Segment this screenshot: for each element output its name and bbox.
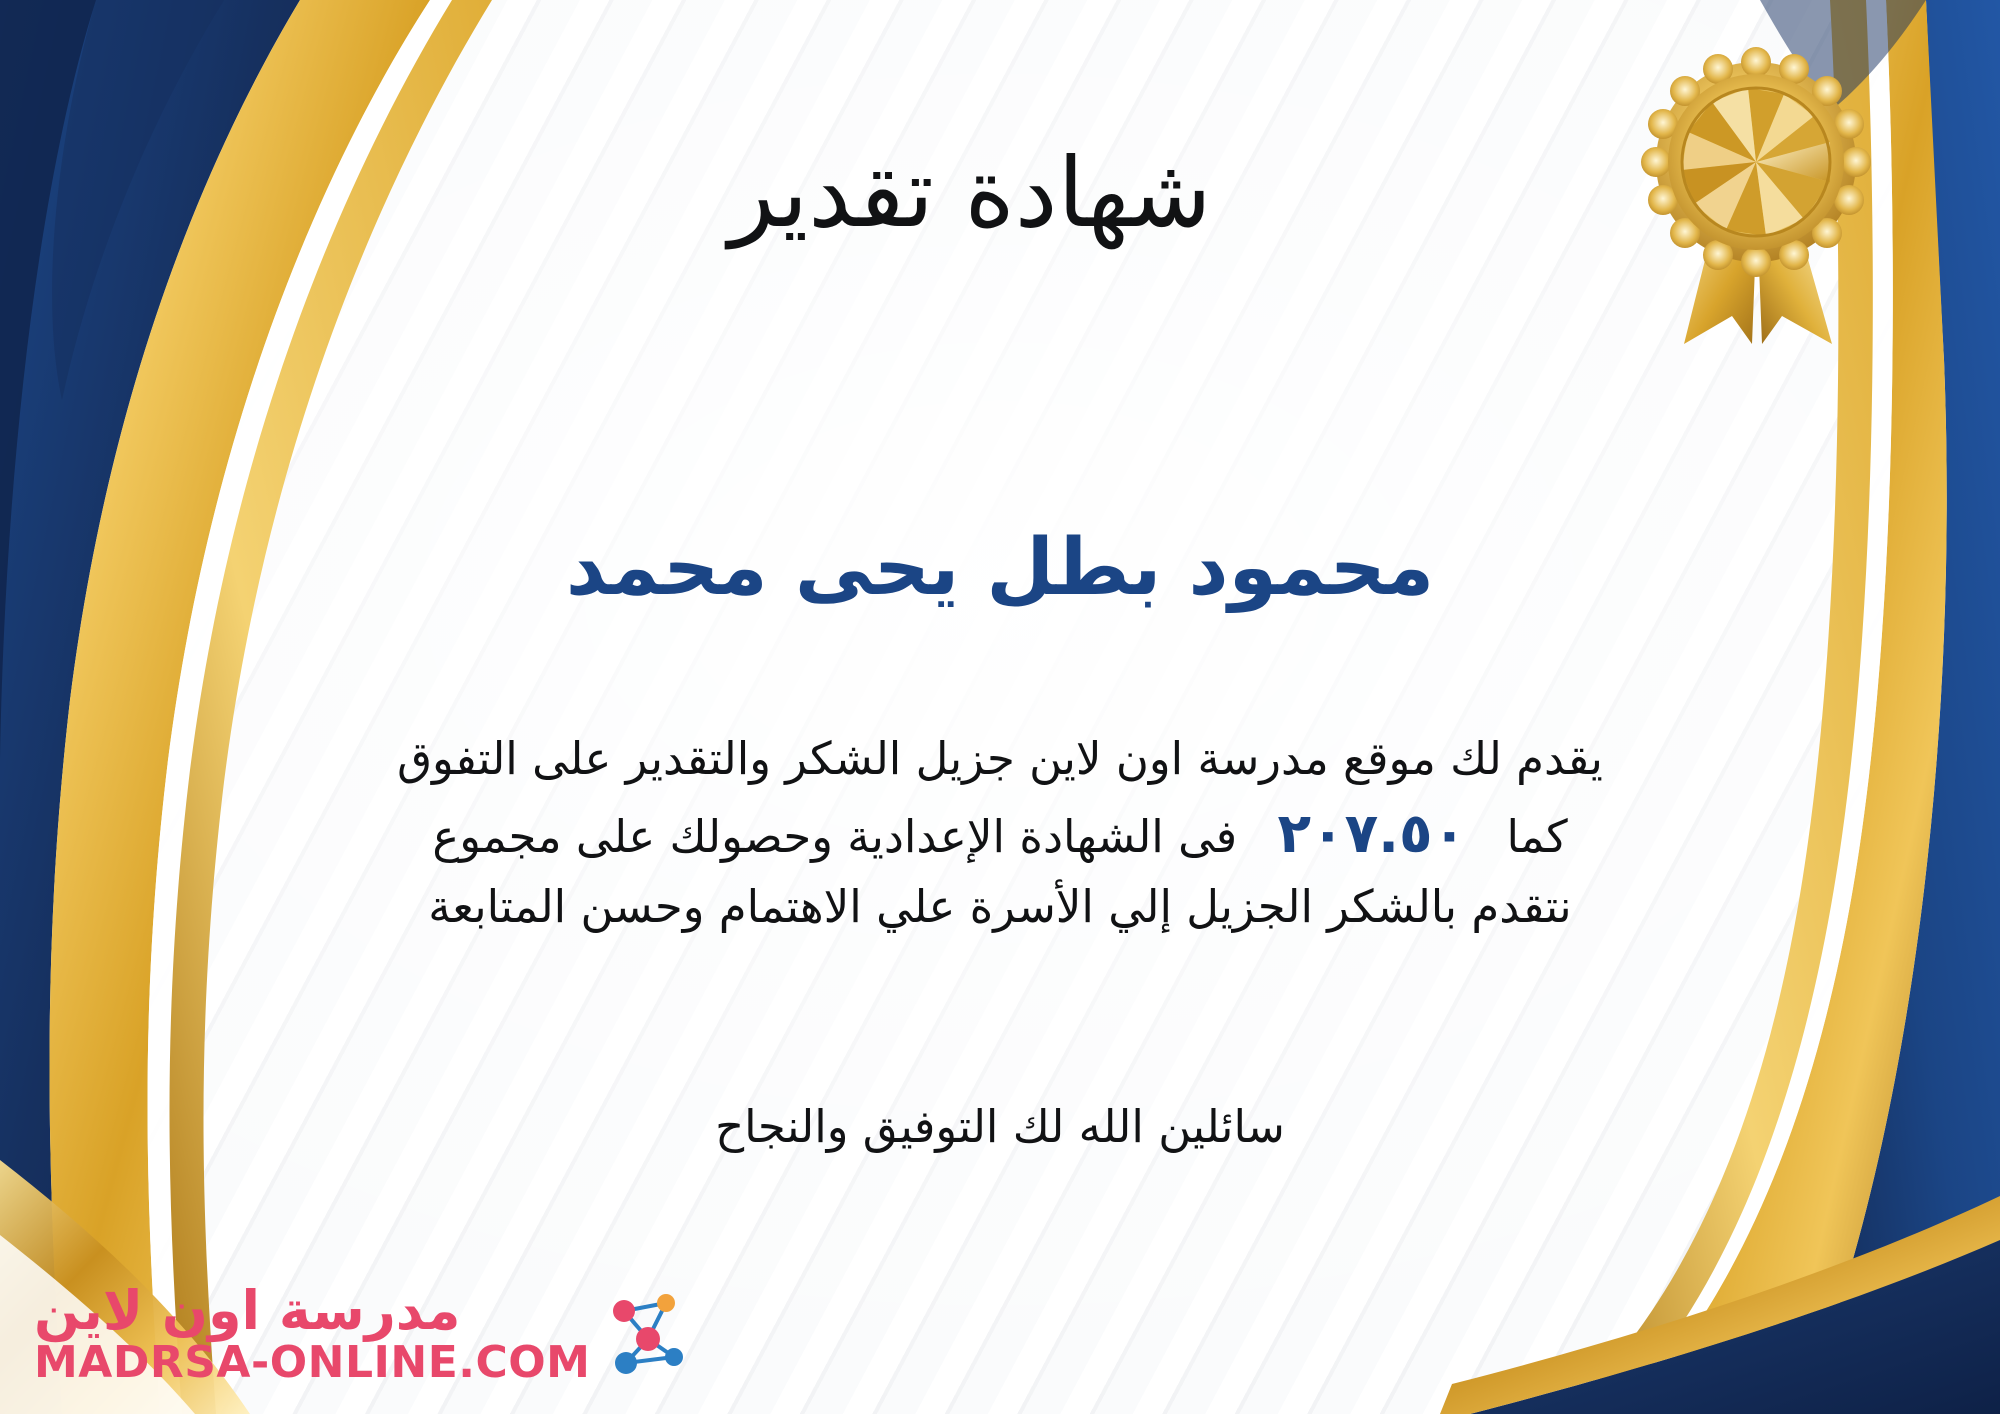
gold-rosette-medal-icon xyxy=(1636,44,1876,364)
certificate-canvas: شهادة تقدير محمود بطل يحى محمد يقدم لك م… xyxy=(0,0,2000,1414)
site-brand-logo[interactable]: مدرسة اون لاين MADRSA-ONLINE.COM xyxy=(34,1283,690,1386)
closing-wishes-line: سائلين الله لك التوفيق والنجاح xyxy=(0,1100,2000,1153)
body-line-3: نتقدم بالشكر الجزيل إلي الأسرة علي الاهت… xyxy=(60,874,1940,941)
network-nodes-icon xyxy=(604,1287,690,1383)
recipient-name: محمود بطل يحى محمد xyxy=(0,528,2000,610)
total-score-value: ٢٠٧.٥٠ xyxy=(1251,801,1492,865)
certificate-body: يقدم لك موقع مدرسة اون لاين جزيل الشكر و… xyxy=(60,726,1940,941)
body-line-1: يقدم لك موقع مدرسة اون لاين جزيل الشكر و… xyxy=(60,726,1940,793)
brand-text-group: مدرسة اون لاين MADRSA-ONLINE.COM xyxy=(34,1283,590,1386)
body-line-2-prefix: فى الشهادة الإعدادية وحصولك على مجموع xyxy=(432,810,1237,863)
body-line-2: كما ٢٠٧.٥٠ فى الشهادة الإعدادية وحصولك ع… xyxy=(60,793,1940,874)
body-line-2-suffix: كما xyxy=(1507,810,1568,863)
brand-name-arabic: مدرسة اون لاين xyxy=(34,1283,460,1340)
brand-website-url: MADRSA-ONLINE.COM xyxy=(34,1340,590,1386)
